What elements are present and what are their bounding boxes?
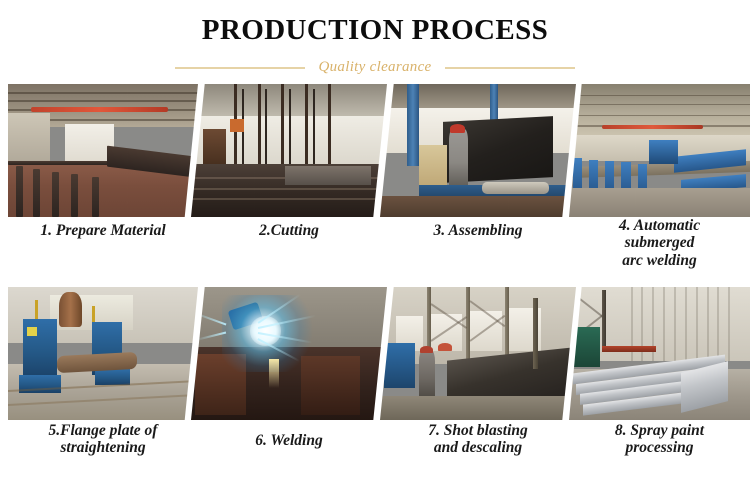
caption-row-bottom: 5.Flange plate of straightening 6. Weldi… <box>0 420 750 476</box>
caption-step-4: 4. Automatic submerged arc welding <box>569 217 750 269</box>
process-photo-7[interactable] <box>380 287 576 420</box>
caption-row-top: 1. Prepare Material 2.Cutting 3. Assembl… <box>0 217 750 273</box>
caption-step-7-line-1: 7. Shot blasting <box>428 422 528 439</box>
process-photo-6[interactable] <box>191 287 387 420</box>
page-header: PRODUCTION PROCESS Quality clearance <box>0 0 750 76</box>
caption-step-4-line-3: arc welding <box>622 252 697 269</box>
caption-step-8: 8. Spray paint processing <box>569 420 750 457</box>
caption-step-5: 5.Flange plate of straightening <box>8 420 198 457</box>
photo-shot-blasting <box>380 287 576 420</box>
photo-row-top <box>0 84 750 217</box>
subtitle-rule-left <box>175 67 305 69</box>
photo-spray-paint-beams <box>569 287 750 420</box>
caption-step-4-line-2: submerged <box>625 234 695 251</box>
caption-step-4-line-1: 4. Automatic <box>619 217 700 234</box>
caption-step-2: 2.Cutting <box>191 217 387 239</box>
caption-step-8-line-1: 8. Spray paint <box>615 422 704 439</box>
photo-flange-plate-straightening <box>8 287 198 420</box>
page-title: PRODUCTION PROCESS <box>0 16 750 45</box>
caption-step-1: 1. Prepare Material <box>8 217 198 239</box>
photo-assembling <box>380 84 576 217</box>
caption-step-5-line-2: straightening <box>60 439 145 456</box>
photo-cutting <box>191 84 387 217</box>
photo-welding-arc <box>191 287 387 420</box>
caption-step-7: 7. Shot blasting and descaling <box>380 420 576 457</box>
process-photo-1[interactable] <box>8 84 198 217</box>
caption-step-6: 6. Welding <box>191 420 387 449</box>
subtitle-row: Quality clearance <box>0 59 750 76</box>
caption-step-8-line-2: processing <box>625 439 693 456</box>
photo-submerged-arc-welding <box>569 84 750 217</box>
process-photo-5[interactable] <box>8 287 198 420</box>
subtitle-rule-right <box>445 67 575 69</box>
process-photo-3[interactable] <box>380 84 576 217</box>
process-photo-8[interactable] <box>569 287 750 420</box>
process-photo-2[interactable] <box>191 84 387 217</box>
caption-step-5-line-1: 5.Flange plate of <box>49 422 158 439</box>
photo-prepare-material <box>8 84 198 217</box>
process-photo-4[interactable] <box>569 84 750 217</box>
caption-step-7-line-2: and descaling <box>434 439 522 456</box>
page-subtitle: Quality clearance <box>319 59 432 76</box>
caption-step-3: 3. Assembling <box>380 217 576 239</box>
photo-row-bottom <box>0 287 750 420</box>
